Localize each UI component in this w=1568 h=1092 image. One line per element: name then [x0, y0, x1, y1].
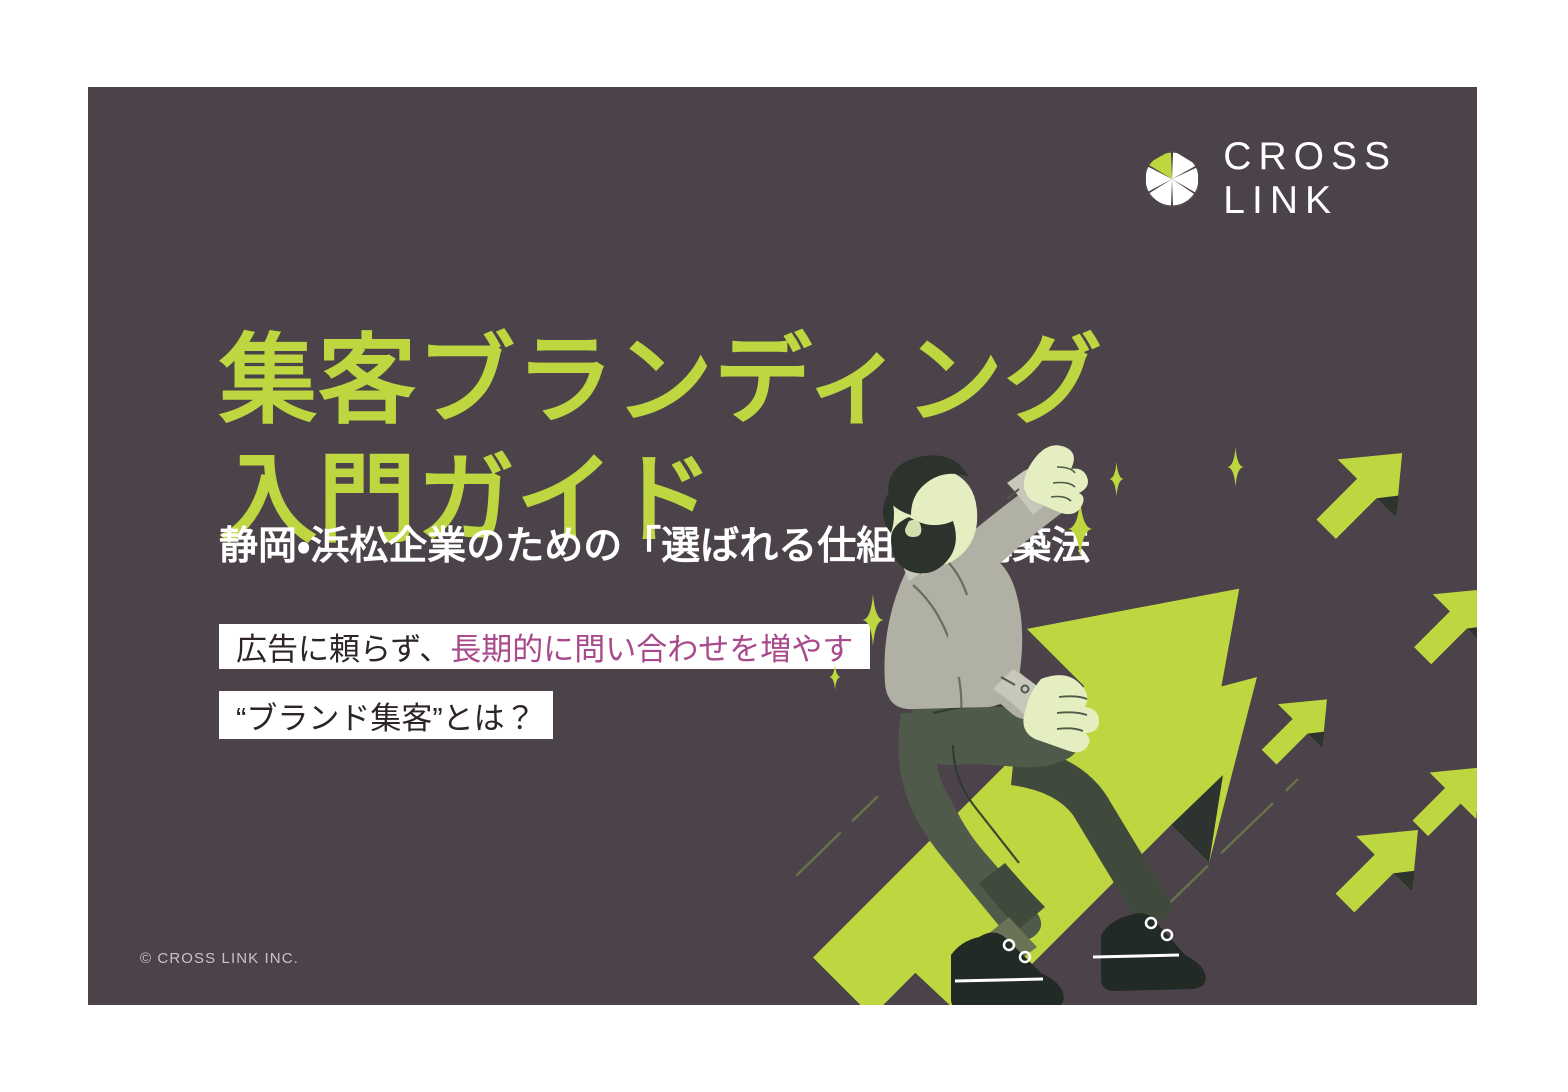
highlight-box-2: “ブランド集客”とは？: [219, 691, 553, 739]
slide-canvas: CROSS LINK 集客ブランディング 入門ガイド 静岡・浜松企業のための「選…: [88, 87, 1477, 1005]
title-line-1: 集客ブランディング: [219, 321, 1103, 441]
logo-line-1: CROSS: [1223, 135, 1397, 179]
logo-wordmark: CROSS LINK: [1223, 135, 1397, 222]
page-subtitle: 静岡・浜松企業のための「選ばれる仕組み」構築法: [219, 515, 1090, 571]
copyright-notice: © CROSS LINK INC.: [140, 950, 299, 967]
shoe-back: [1093, 913, 1206, 991]
camera-aperture-icon: [1143, 150, 1201, 208]
highlight-1-lead: 広告に頼らず、: [236, 624, 450, 669]
shoe-front: [951, 932, 1064, 1005]
brand-logo: CROSS LINK: [1143, 135, 1397, 222]
highlight-2-lead: “ブランド集客”とは？: [236, 693, 536, 738]
highlight-box-1: 広告に頼らず、 長期的に問い合わせを増やす: [219, 624, 870, 669]
highlight-1-accent: 長期的に問い合わせを増やす: [450, 624, 853, 669]
main-rising-arrow: [813, 589, 1239, 1005]
logo-line-2: LINK: [1223, 179, 1397, 223]
main-arrow-shape: [907, 677, 1257, 1005]
